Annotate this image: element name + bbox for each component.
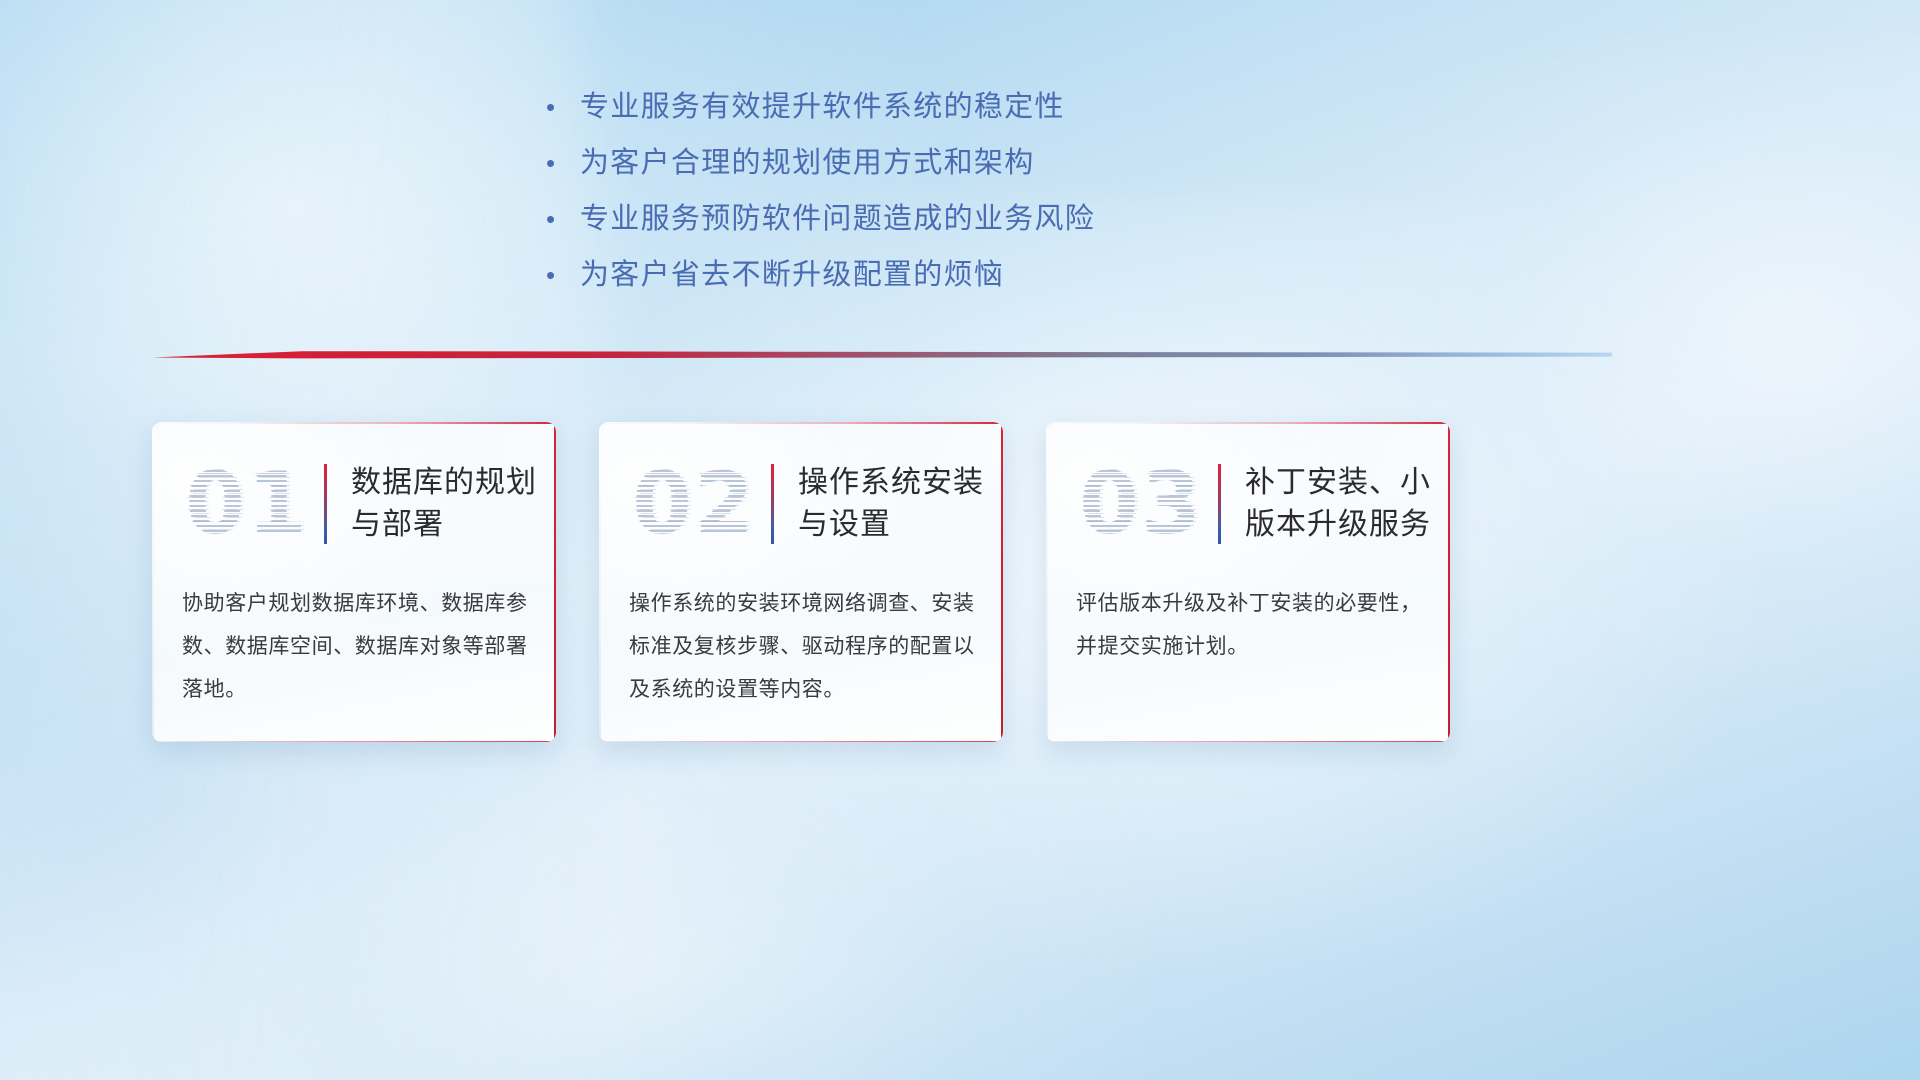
bullet-marker-icon: • [540,88,580,126]
section-divider [152,344,1612,366]
card-number-badge: 01 01 01 [176,450,318,558]
divider-shape-icon [152,344,1612,366]
card-header: 01 01 01 数据库的规划与部署 [152,444,556,564]
card-bottom-edge [152,741,556,743]
card-number-tint: 02 [621,450,763,558]
card-number-tint: 01 [174,450,316,558]
card-header: 03 03 03 补丁安装、小版本升级服务 [1046,444,1450,564]
card-title: 数据库的规划与部署 [351,462,556,546]
bullet-marker-icon: • [540,200,580,238]
bullet-marker-icon: • [540,144,580,182]
bullet-text: 为客户省去不断升级配置的烦恼 [580,256,1004,294]
bullet-text: 专业服务有效提升软件系统的稳定性 [580,88,1065,126]
card-description: 评估版本升级及补丁安装的必要性，并提交实施计划。 [1076,582,1422,668]
service-card-02[interactable]: 02 02 02 操作系统安装与设置 操作系统的安装环境网络调查、安装标准及复核… [599,422,1003,742]
bullet-text: 为客户合理的规划使用方式和架构 [580,144,1035,182]
service-cards-row: 01 01 01 数据库的规划与部署 协助客户规划数据库环境、数据库参数、数据库… [152,422,1452,742]
card-number-badge: 02 02 02 [623,450,765,558]
card-description: 协助客户规划数据库环境、数据库参数、数据库空间、数据库对象等部署落地。 [182,582,528,711]
card-number-badge: 03 03 03 [1070,450,1212,558]
service-card-03[interactable]: 03 03 03 补丁安装、小版本升级服务 评估版本升级及补丁安装的必要性，并提… [1046,422,1450,742]
list-item: • 为客户省去不断升级配置的烦恼 [540,256,1520,294]
card-description: 操作系统的安装环境网络调查、安装标准及复核步骤、驱动程序的配置以及系统的设置等内… [629,582,975,711]
card-top-edge [1046,422,1450,424]
card-title-rule [771,464,774,544]
list-item: • 专业服务有效提升软件系统的稳定性 [540,88,1520,126]
card-bottom-edge [1046,741,1450,743]
bullet-marker-icon: • [540,256,580,294]
card-title: 补丁安装、小版本升级服务 [1245,462,1450,546]
card-title-rule [1218,464,1221,544]
card-bottom-edge [599,741,1003,743]
benefits-bullet-list: • 专业服务有效提升软件系统的稳定性 • 为客户合理的规划使用方式和架构 • 专… [540,88,1520,312]
card-number-tint: 03 [1068,450,1210,558]
card-top-edge [599,422,1003,424]
card-header: 02 02 02 操作系统安装与设置 [599,444,1003,564]
list-item: • 专业服务预防软件问题造成的业务风险 [540,200,1520,238]
bullet-text: 专业服务预防软件问题造成的业务风险 [580,200,1095,238]
card-title-rule [324,464,327,544]
list-item: • 为客户合理的规划使用方式和架构 [540,144,1520,182]
service-card-01[interactable]: 01 01 01 数据库的规划与部署 协助客户规划数据库环境、数据库参数、数据库… [152,422,556,742]
card-title: 操作系统安装与设置 [798,462,1003,546]
card-top-edge [152,422,556,424]
